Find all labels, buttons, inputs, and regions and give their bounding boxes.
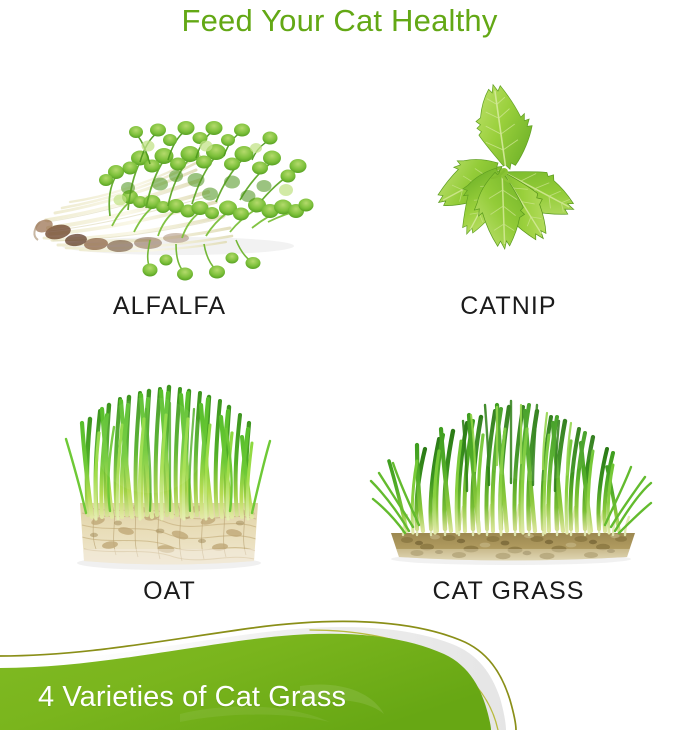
variety-label-catnip: CATNIP [339, 292, 678, 321]
variety-label-oat: OAT [0, 577, 339, 606]
oat-grass-photo [0, 335, 339, 575]
catnip-leaves-photo [339, 50, 678, 290]
cat-grass-photo [339, 335, 678, 575]
page-title: Feed Your Cat Healthy [0, 3, 679, 39]
variety-card-cat-grass: CAT GRASS [339, 335, 678, 620]
variety-label-cat-grass: CAT GRASS [339, 577, 678, 606]
variety-label-alfalfa: ALFALFA [0, 292, 339, 321]
alfalfa-sprouts-photo [0, 50, 339, 290]
variety-grid: ALFALFA [0, 50, 679, 620]
banner-text: 4 Varieties of Cat Grass [38, 681, 346, 714]
variety-card-alfalfa: ALFALFA [0, 50, 339, 335]
variety-card-oat: OAT [0, 335, 339, 620]
variety-card-catnip: CATNIP [339, 50, 678, 335]
bottom-banner: 4 Varieties of Cat Grass [0, 618, 679, 730]
